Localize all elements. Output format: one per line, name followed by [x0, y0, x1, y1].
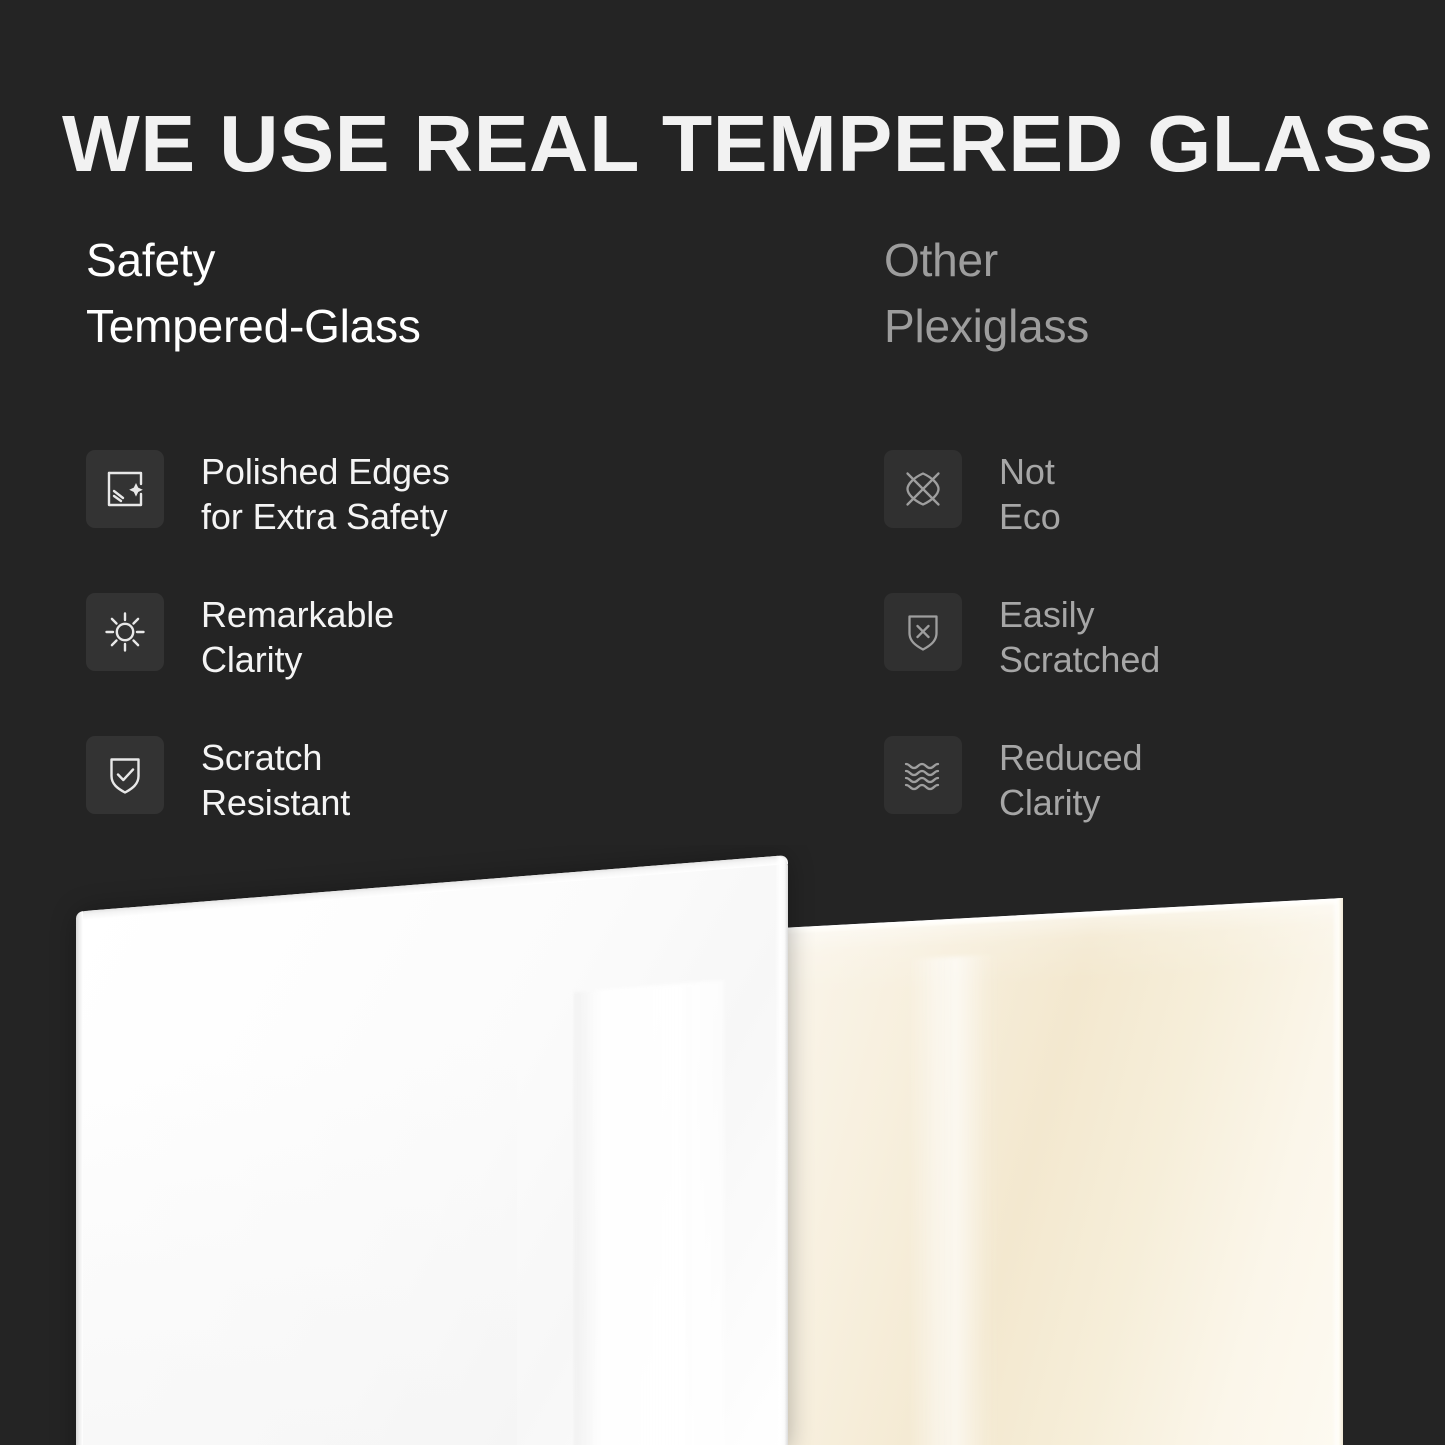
feature-item: Remarkable Clarity: [86, 591, 450, 677]
plexiglass-panel: [787, 898, 1343, 1445]
feature-item: Scratch Resistant: [86, 734, 450, 820]
column-heading-line1: Other: [884, 228, 1404, 294]
feature-item: Easily Scratched: [884, 591, 1160, 677]
tempered-glass-polished-top-edge: [76, 855, 788, 921]
feature-label-line2: Clarity: [201, 637, 394, 682]
feature-item: Polished Edges for Extra Safety: [86, 448, 450, 534]
leaf-crossed-out-icon: [884, 450, 962, 528]
feature-label-line2: Eco: [999, 494, 1061, 539]
plexiglass-top-edge: [787, 898, 1343, 935]
feature-label-line1: Not: [999, 449, 1061, 494]
feature-label-line2: Scratched: [999, 637, 1160, 682]
product-photo: [0, 845, 1445, 1445]
feature-label-line1: Remarkable: [201, 592, 394, 637]
sun-brightness-icon: [86, 593, 164, 671]
feature-label-line1: Scratch: [201, 735, 350, 780]
feature-list-tempered-glass: Polished Edges for Extra Safety: [86, 448, 450, 820]
page-title: WE USE REAL TEMPERED GLASS: [62, 96, 1432, 192]
feature-label-line1: Polished Edges: [201, 449, 450, 494]
feature-label-line1: Reduced: [999, 735, 1142, 780]
column-heading-plexiglass: Other Plexiglass: [884, 228, 1404, 360]
feature-item: Reduced Clarity: [884, 734, 1160, 820]
tempered-glass-polished-left-edge: [76, 911, 83, 1445]
feature-list-plexiglass: Not Eco Easily Scratched: [884, 448, 1160, 820]
infographic-root: WE USE REAL TEMPERED GLASS Safety Temper…: [0, 0, 1445, 1445]
plexiglass-reflection: [909, 954, 999, 1445]
column-heading-tempered-glass: Safety Tempered-Glass: [86, 228, 786, 360]
feature-label-line1: Easily: [999, 592, 1160, 637]
tempered-glass-surface-shading: [76, 1037, 517, 1445]
column-heading-line2: Tempered-Glass: [86, 294, 786, 360]
shield-x-icon: [884, 593, 962, 671]
tempered-glass-reflection: [574, 980, 724, 1445]
feature-label-line2: Resistant: [201, 780, 350, 825]
wavy-lines-distortion-icon: [884, 736, 962, 814]
tempered-glass-polished-right-edge: [775, 855, 788, 1445]
feature-label-line2: Clarity: [999, 780, 1142, 825]
polished-glass-sparkle-icon: [86, 450, 164, 528]
shield-check-icon: [86, 736, 164, 814]
tempered-glass-panel: [76, 855, 788, 1445]
feature-item: Not Eco: [884, 448, 1160, 534]
column-heading-line1: Safety: [86, 228, 786, 294]
column-heading-line2: Plexiglass: [884, 294, 1404, 360]
feature-label-line2: for Extra Safety: [201, 494, 450, 539]
